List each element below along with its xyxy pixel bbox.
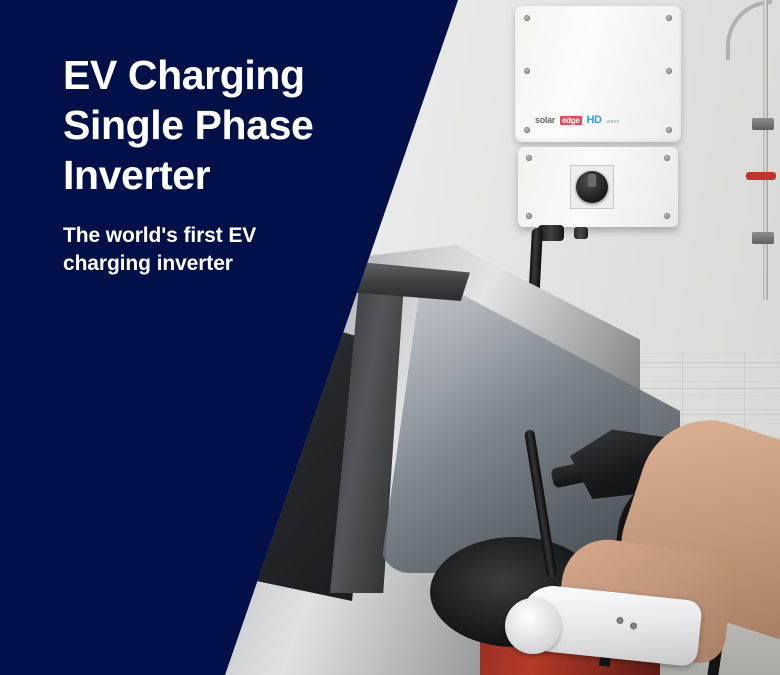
rack-post <box>763 0 768 300</box>
screw-icon <box>664 155 670 161</box>
dc-disconnect-switch <box>570 165 614 209</box>
inverter-switch-enclosure <box>518 147 678 227</box>
logo-solar-text: solar <box>535 115 555 125</box>
solaredge-logo: solaredge HD wave <box>535 114 619 126</box>
cable-gland <box>574 227 588 239</box>
page-title: EV Charging Single Phase Inverter <box>63 50 393 200</box>
connector-pin <box>616 617 624 625</box>
rack-red-accent <box>746 172 776 180</box>
hero-copy: EV Charging Single Phase Inverter The wo… <box>63 50 393 277</box>
hero-banner: solaredge HD wave <box>0 0 780 675</box>
screw-icon <box>666 127 672 133</box>
rotary-knob-icon <box>576 171 608 203</box>
screw-icon <box>524 15 530 21</box>
logo-hd-text: HD <box>587 114 602 126</box>
page-subtitle: The world's first EV charging inverter <box>63 222 393 277</box>
screw-icon <box>524 68 530 74</box>
logo-edge-text: edge <box>560 116 581 125</box>
screw-icon <box>524 127 530 133</box>
screw-icon <box>526 155 532 161</box>
wall-rack <box>740 0 780 300</box>
screw-icon <box>666 68 672 74</box>
connector-pin <box>630 622 638 630</box>
inverter-main-enclosure: solaredge HD wave <box>515 6 681 142</box>
rack-clip <box>752 232 774 244</box>
screw-icon <box>526 213 532 219</box>
screw-icon <box>666 15 672 21</box>
solaredge-inverter: solaredge HD wave <box>508 6 688 231</box>
logo-wave-text: wave <box>606 119 619 125</box>
screw-icon <box>664 213 670 219</box>
rack-clip <box>752 118 774 130</box>
